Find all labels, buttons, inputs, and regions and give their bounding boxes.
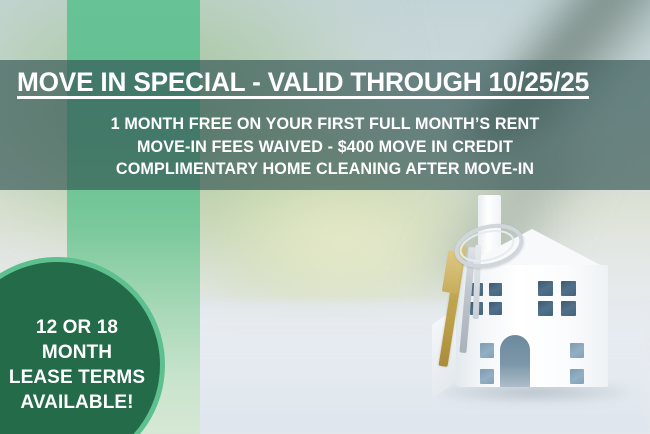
- window-upper-right-2: [561, 281, 576, 296]
- model-house-illustration: [430, 195, 650, 425]
- move-in-special-promo-banner: MOVE IN SPECIAL - VALID THROUGH 10/25/25…: [0, 0, 650, 434]
- badge-line-3: LEASE TERMS: [9, 365, 145, 390]
- badge-line-2: MONTH: [9, 340, 145, 365]
- window-upper-left-2: [489, 283, 502, 296]
- window-lower-left-2: [480, 369, 494, 384]
- promo-headline: MOVE IN SPECIAL - VALID THROUGH 10/25/25: [17, 62, 589, 102]
- window-lower-left-1: [480, 343, 494, 358]
- window-lower-right-1: [570, 343, 584, 358]
- house-front-door: [500, 335, 530, 387]
- window-upper-right-3: [538, 301, 553, 316]
- lease-terms-badge-text: 12 OR 18 MONTH LEASE TERMS AVAILABLE!: [0, 315, 145, 415]
- promo-details-list: 1 MONTH FREE ON YOUR FIRST FULL MONTH’S …: [0, 113, 650, 181]
- window-upper-left-4: [489, 302, 502, 315]
- promo-detail-line-2: MOVE-IN FEES WAIVED - $400 MOVE IN CREDI…: [7, 136, 644, 159]
- promo-detail-line-3: COMPLIMENTARY HOME CLEANING AFTER MOVE-I…: [7, 158, 644, 181]
- badge-line-1: 12 OR 18: [9, 315, 145, 340]
- window-lower-right-2: [570, 369, 584, 384]
- headline-container: MOVE IN SPECIAL - VALID THROUGH 10/25/25: [0, 62, 650, 102]
- window-upper-right-4: [561, 301, 576, 316]
- promo-detail-line-1: 1 MONTH FREE ON YOUR FIRST FULL MONTH’S …: [7, 113, 644, 136]
- badge-line-4: AVAILABLE!: [9, 390, 145, 415]
- window-upper-right-1: [538, 281, 553, 296]
